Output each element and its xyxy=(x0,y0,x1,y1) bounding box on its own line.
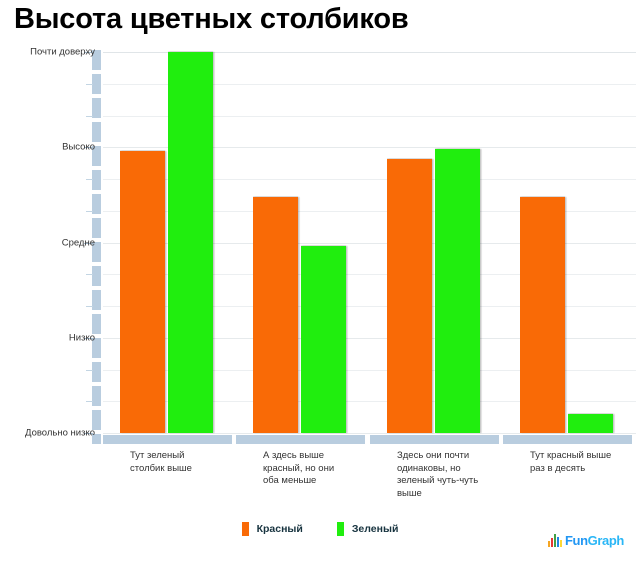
legend: Красный Зеленый xyxy=(0,522,640,536)
y-tick-minor xyxy=(86,274,93,275)
legend-label-red: Красный xyxy=(257,523,303,535)
y-tick-minor xyxy=(86,306,93,307)
logo-bar xyxy=(557,537,559,547)
y-axis-segment xyxy=(92,290,101,310)
x-axis-origin-cap xyxy=(92,435,101,444)
y-axis-tick-label: Средне xyxy=(62,238,95,249)
y-axis-tick-label: Довольно низко xyxy=(25,428,95,439)
x-axis-segment xyxy=(370,435,499,444)
x-axis-category-label: Тут красный выше раз в десять xyxy=(530,450,618,475)
x-axis-category-label: Тут зеленый столбик выше xyxy=(130,450,218,475)
y-axis-tick-label: Низко xyxy=(69,333,95,344)
y-axis-segment xyxy=(92,98,101,118)
bar-red-group-3[interactable] xyxy=(387,159,432,433)
logo-text-fun: Fun xyxy=(565,533,588,548)
x-axis-rail xyxy=(92,435,637,444)
legend-item-red[interactable]: Красный xyxy=(242,522,303,536)
y-tick-minor xyxy=(86,179,93,180)
logo-bar xyxy=(560,540,562,547)
logo-text-graph: Graph xyxy=(588,533,624,548)
y-axis-segment xyxy=(92,74,101,94)
legend-item-green[interactable]: Зеленый xyxy=(337,522,399,536)
legend-swatch-green xyxy=(337,522,344,536)
x-axis-category-label: Здесь они почти одинаковы, но зеленый чу… xyxy=(397,450,485,500)
y-axis-segment xyxy=(92,362,101,382)
fungraph-logo[interactable]: FunGraph xyxy=(548,534,624,547)
legend-label-green: Зеленый xyxy=(352,523,399,535)
y-tick-minor xyxy=(86,401,93,402)
x-axis-segment xyxy=(103,435,232,444)
legend-swatch-red xyxy=(242,522,249,536)
gridline-major xyxy=(103,433,636,434)
bar-green-group-4[interactable] xyxy=(568,414,613,433)
x-axis-segment xyxy=(236,435,365,444)
bar-green-group-2[interactable] xyxy=(301,246,346,433)
bar-red-group-2[interactable] xyxy=(253,197,298,433)
bar-red-group-4[interactable] xyxy=(520,197,565,433)
x-axis-segment xyxy=(503,435,632,444)
y-axis-tick-label: Высоко xyxy=(62,142,95,153)
y-tick-minor xyxy=(86,370,93,371)
y-tick-minor xyxy=(86,84,93,85)
logo-bar xyxy=(548,541,550,547)
y-tick-minor xyxy=(86,116,93,117)
bar-green-group-3[interactable] xyxy=(435,149,480,433)
x-axis-category-label: А здесь выше красный, но они оба меньше xyxy=(263,450,351,488)
bar-red-group-1[interactable] xyxy=(120,151,165,433)
y-axis-segment xyxy=(92,266,101,286)
logo-bar xyxy=(551,538,553,547)
y-axis-segment xyxy=(92,218,101,238)
y-axis-segment xyxy=(92,194,101,214)
y-axis-segment xyxy=(92,170,101,190)
chart-title: Высота цветных столбиков xyxy=(14,3,409,36)
logo-bars-icon xyxy=(548,534,562,547)
bar-green-group-1[interactable] xyxy=(168,52,213,433)
chart-root: Высота цветных столбиков Довольно низкоН… xyxy=(0,0,640,565)
y-axis-segment xyxy=(92,386,101,406)
y-tick-minor xyxy=(86,211,93,212)
logo-bar xyxy=(554,534,556,547)
y-axis-tick-label: Почти доверху xyxy=(30,47,95,58)
plot-area xyxy=(103,52,636,433)
y-axis-segment xyxy=(92,122,101,142)
y-axis-segment xyxy=(92,314,101,334)
logo-wordmark: FunGraph xyxy=(565,534,624,547)
